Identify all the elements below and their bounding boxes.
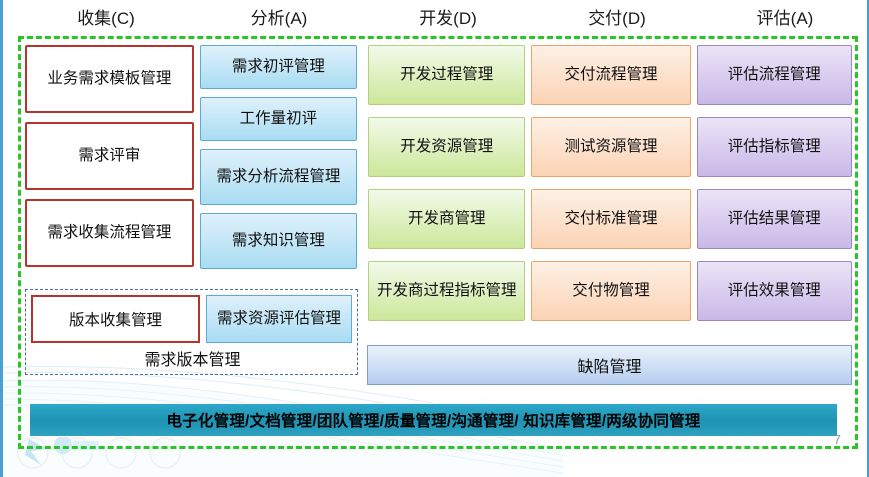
module-deliverable[interactable]: 交付物管理 — [531, 261, 690, 321]
module-business-requirement-template[interactable]: 业务需求模板管理 — [25, 45, 194, 113]
phase-header-develop: 开发(D) — [363, 6, 533, 34]
module-requirement-knowledge[interactable]: 需求知识管理 — [200, 213, 357, 269]
phase-header-evaluate: 评估(A) — [701, 6, 869, 34]
column-deliver: 交付流程管理 测试资源管理 交付标准管理 交付物管理 — [531, 45, 690, 333]
module-evaluation-process[interactable]: 评估流程管理 — [697, 45, 852, 105]
requirement-version-group-label: 需求版本管理 — [26, 346, 359, 370]
module-workload-estimate[interactable]: 工作量初评 — [200, 97, 357, 141]
module-requirement-initial-review[interactable]: 需求初评管理 — [200, 45, 357, 89]
module-defect-management[interactable]: 缺陷管理 — [367, 345, 852, 385]
module-evaluation-effect[interactable]: 评估效果管理 — [697, 261, 852, 321]
platform-capability-bar: 电子化管理/文档管理/团队管理/质量管理/沟通管理/ 知识库管理/两级协同管理 — [29, 403, 838, 437]
module-requirement-resource-evaluation[interactable]: 需求资源评估管理 — [206, 295, 352, 343]
requirement-version-group-row: 版本收集管理 需求资源评估管理 — [31, 295, 352, 343]
module-developer-vendor[interactable]: 开发商管理 — [368, 189, 525, 249]
module-test-resource[interactable]: 测试资源管理 — [531, 117, 690, 177]
requirement-version-group: 版本收集管理 需求资源评估管理 需求版本管理 — [25, 289, 358, 375]
module-requirement-review[interactable]: 需求评审 — [25, 122, 194, 190]
module-version-collection[interactable]: 版本收集管理 — [31, 295, 200, 343]
module-development-resource[interactable]: 开发资源管理 — [368, 117, 525, 177]
page-number: 7 — [801, 432, 841, 447]
module-requirement-collection-process[interactable]: 需求收集流程管理 — [25, 199, 194, 267]
module-evaluation-metrics[interactable]: 评估指标管理 — [697, 117, 852, 177]
column-evaluate: 评估流程管理 评估指标管理 评估结果管理 评估效果管理 — [697, 45, 852, 333]
module-development-process[interactable]: 开发过程管理 — [368, 45, 525, 105]
slide-canvas: 收集(C) 分析(A) 开发(D) 交付(D) 评估(A) 业务需求模板管理 需… — [0, 0, 869, 477]
module-requirement-analysis-process[interactable]: 需求分析流程管理 — [200, 149, 357, 205]
phase-header-deliver: 交付(D) — [533, 6, 701, 34]
module-evaluation-result[interactable]: 评估结果管理 — [697, 189, 852, 249]
module-delivery-process[interactable]: 交付流程管理 — [531, 45, 690, 105]
phase-header-analysis: 分析(A) — [195, 6, 363, 34]
phase-header-row: 收集(C) 分析(A) 开发(D) 交付(D) 评估(A) — [3, 6, 869, 34]
module-vendor-process-metrics[interactable]: 开发商过程指标管理 — [368, 261, 525, 321]
module-delivery-standard[interactable]: 交付标准管理 — [531, 189, 690, 249]
phase-header-collect: 收集(C) — [17, 6, 195, 34]
column-develop: 开发过程管理 开发资源管理 开发商管理 开发商过程指标管理 — [368, 45, 525, 333]
